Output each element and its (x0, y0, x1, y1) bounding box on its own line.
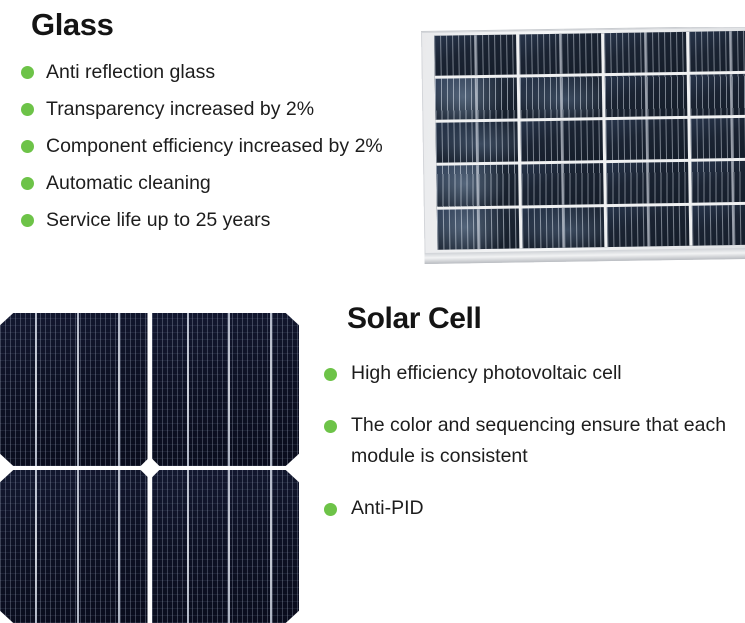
module-cell (691, 161, 745, 203)
list-item: The color and sequencing ensure that eac… (324, 410, 736, 472)
bullet-dot-icon (324, 368, 337, 381)
list-item-label: Component efficiency increased by 2% (46, 131, 421, 162)
list-item: Component efficiency increased by 2% (21, 131, 421, 162)
module-cell (605, 75, 688, 117)
list-item: High efficiency photovoltaic cell (324, 358, 736, 389)
list-item-label: Service life up to 25 years (46, 205, 421, 236)
list-item-label: Anti reflection glass (46, 57, 421, 88)
bullet-dot-icon (21, 140, 34, 153)
module-laminate (434, 31, 745, 250)
module-cell (519, 33, 602, 75)
list-item-label: Transparency increased by 2% (46, 94, 421, 125)
module-tilt-wrapper (421, 27, 745, 267)
list-item: Anti-PID (324, 493, 736, 524)
solar-cell (152, 470, 300, 623)
list-item-label: The color and sequencing ensure that eac… (351, 410, 736, 472)
busbar-line (118, 470, 120, 623)
module-cell (604, 32, 687, 74)
solar-cell (152, 313, 300, 466)
module-cell (435, 78, 518, 120)
module-cell (521, 163, 604, 205)
module-cell (690, 74, 745, 116)
module-cell (690, 117, 745, 159)
list-item-label: Automatic cleaning (46, 168, 421, 199)
solar-cell-section-title: Solar Cell (347, 300, 481, 338)
busbar-line (35, 313, 37, 466)
busbar-line (187, 313, 189, 466)
module-cell (606, 162, 689, 204)
module-cell (434, 35, 517, 77)
bullet-dot-icon (324, 503, 337, 516)
bullet-dot-icon (324, 420, 337, 433)
list-item: Service life up to 25 years (21, 205, 421, 236)
busbar-line (77, 313, 79, 466)
module-cell (607, 205, 690, 247)
module-cell (520, 120, 603, 162)
bullet-dot-icon (21, 103, 34, 116)
list-item: Anti reflection glass (21, 57, 421, 88)
bullet-dot-icon (21, 66, 34, 79)
solar-cells-photo (0, 313, 299, 623)
busbar-line (35, 470, 37, 623)
module-cell (435, 121, 518, 163)
bullet-dot-icon (21, 177, 34, 190)
busbar-line (270, 470, 272, 623)
solar-module-photo (411, 27, 745, 267)
busbar-line (187, 470, 189, 623)
solar-cell-feature-list: High efficiency photovoltaic cell The co… (324, 358, 736, 524)
list-item: Automatic cleaning (21, 168, 421, 199)
list-item-label: High efficiency photovoltaic cell (351, 358, 736, 389)
solar-cell (0, 470, 148, 623)
module-cell-grid (434, 31, 745, 250)
module-cell (436, 165, 519, 207)
busbar-line (228, 470, 230, 623)
busbar-line (77, 470, 79, 623)
bullet-dot-icon (21, 214, 34, 227)
module-cell (689, 31, 745, 73)
module-cell (605, 119, 688, 161)
list-item: Transparency increased by 2% (21, 94, 421, 125)
module-cell (520, 77, 603, 119)
list-item-label: Anti-PID (351, 493, 736, 524)
module-cell (522, 207, 605, 249)
glass-feature-list: Anti reflection glass Transparency incre… (21, 57, 421, 236)
solar-cell (0, 313, 148, 466)
glass-section-title: Glass (31, 6, 113, 44)
busbar-line (228, 313, 230, 466)
busbar-line (118, 313, 120, 466)
module-cell (437, 208, 520, 250)
busbar-line (270, 313, 272, 466)
module-cell (692, 204, 745, 246)
